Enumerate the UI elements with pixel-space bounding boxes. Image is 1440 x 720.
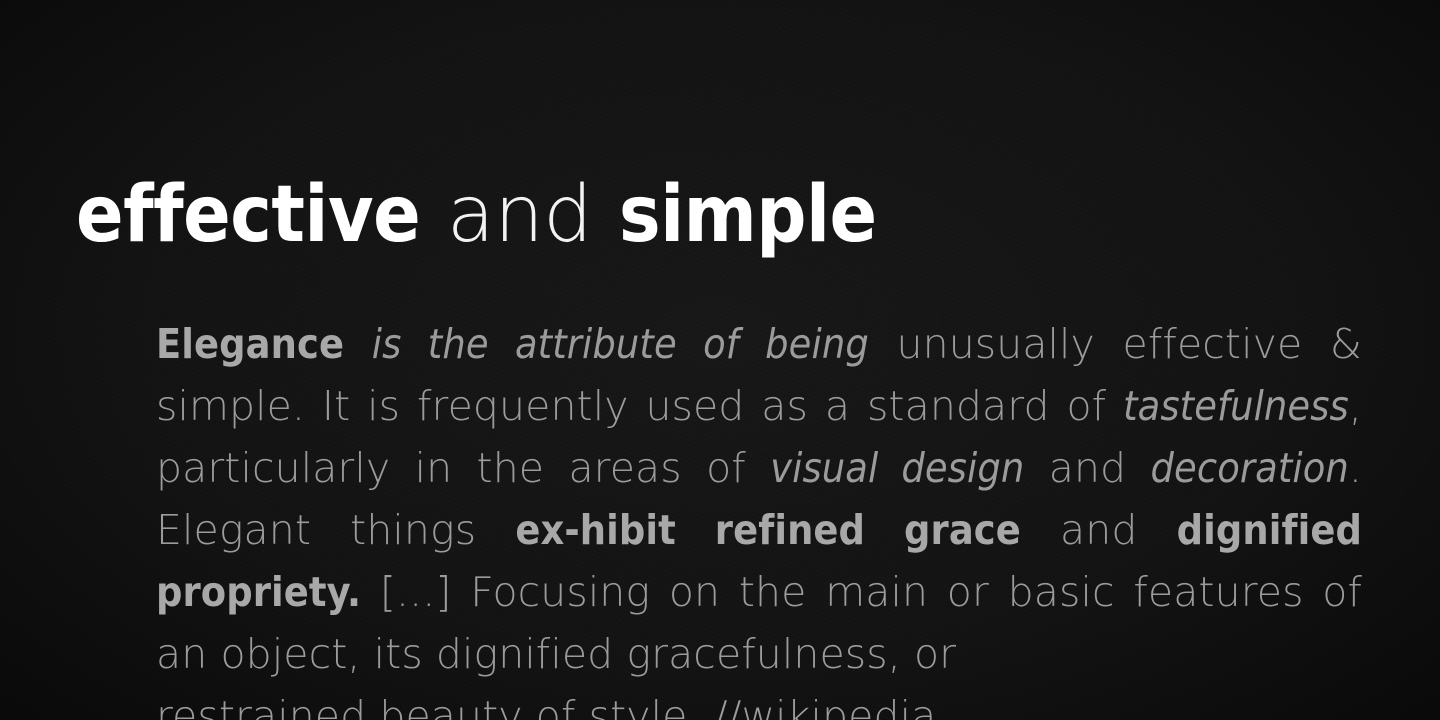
page-title: effective and simple [76, 176, 877, 254]
headline-word-simple: simple [619, 170, 877, 260]
headline-space-2 [592, 170, 619, 260]
type-specimen-poster: effective and simple Elegance is the att… [0, 0, 1440, 720]
body-run-elegance: Elegance [156, 320, 344, 368]
headline-word-effective: effective [76, 170, 420, 260]
poster-content: effective and simple Elegance is the att… [0, 0, 1440, 720]
body-run-exhibit-refined-grace: ex-hibit refined grace [515, 506, 1021, 554]
headline-space-1 [420, 170, 447, 260]
body-run-and-1: and [1024, 444, 1150, 492]
body-space-1 [344, 320, 372, 368]
body-paragraph: Elegance is the attribute of being unusu… [156, 313, 1362, 720]
body-run-tastefulness: tastefulness [1123, 382, 1349, 430]
body-run-and-2: and [1021, 506, 1177, 554]
body-run-restrained-beauty-credit: restrained beauty of style. //wikipedia [156, 685, 1362, 720]
body-run-visual-design: visual design [770, 444, 1024, 492]
headline-word-and: and [447, 170, 592, 260]
body-run-is-the-attribute-of-being: is the attribute of being [372, 320, 869, 368]
body-run-decoration: decoration [1151, 444, 1349, 492]
